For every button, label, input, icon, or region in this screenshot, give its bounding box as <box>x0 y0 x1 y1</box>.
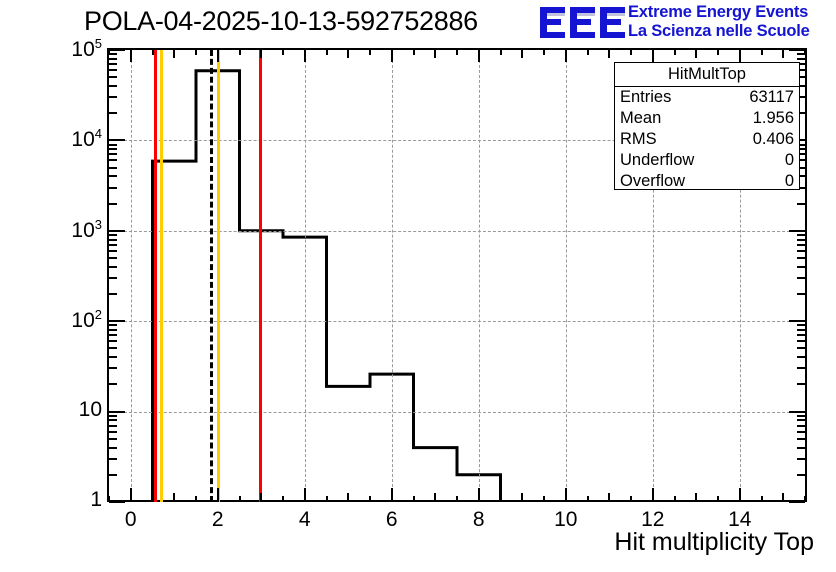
x-tick <box>543 496 545 502</box>
y-tick <box>109 58 117 60</box>
y-tick <box>109 234 117 236</box>
y-tick-right <box>797 293 805 295</box>
x-axis-title: Hit multiplicity Top <box>614 528 814 557</box>
x-tick <box>304 488 306 502</box>
x-tick <box>260 493 262 502</box>
stats-row-value: 0.406 <box>753 129 794 150</box>
y-tick <box>109 277 117 279</box>
y-tick <box>109 257 117 259</box>
stats-row-key: RMS <box>620 129 657 150</box>
x-tick-top <box>130 50 132 62</box>
x-tick <box>456 496 458 502</box>
x-tick <box>717 496 719 502</box>
y-tick <box>109 63 117 65</box>
x-tick <box>152 496 154 502</box>
y-tick <box>109 383 117 385</box>
x-tick-top <box>565 50 567 62</box>
x-tick-top <box>695 50 697 58</box>
y-tick-label: 1 <box>14 488 102 512</box>
y-tick <box>109 425 117 427</box>
x-tick-top <box>478 50 480 62</box>
x-tick-top <box>543 50 545 55</box>
y-tick <box>109 458 117 460</box>
y-tick <box>109 367 117 369</box>
x-tick-top <box>239 50 241 55</box>
y-tick-right <box>797 431 805 433</box>
y-tick-right <box>797 383 805 385</box>
y-tick <box>109 175 117 177</box>
y-tick <box>109 85 117 87</box>
y-tick-right <box>789 320 805 322</box>
x-tick-top <box>391 50 393 62</box>
y-tick <box>109 431 117 433</box>
x-tick <box>565 488 567 502</box>
x-tick-label: 8 <box>449 508 509 532</box>
y-tick <box>109 415 117 417</box>
x-tick <box>521 493 523 502</box>
y-tick-right <box>789 501 805 503</box>
x-tick-top <box>173 50 175 58</box>
stats-box-rows: Entries63117Mean1.956RMS0.406Underflow0O… <box>615 87 799 192</box>
y-tick-right <box>797 239 805 241</box>
y-tick-right <box>797 58 805 60</box>
x-tick-label: 4 <box>275 508 335 532</box>
x-tick-top <box>630 50 632 55</box>
y-tick <box>109 334 117 336</box>
y-tick-label: 104 <box>14 126 102 152</box>
x-tick <box>391 488 393 502</box>
stats-row-key: Mean <box>620 108 661 129</box>
y-tick-right <box>797 266 805 268</box>
stats-row-value: 0 <box>785 171 794 192</box>
x-tick <box>478 488 480 502</box>
y-tick-right <box>797 415 805 417</box>
x-tick <box>195 496 197 502</box>
y-tick-right <box>789 49 805 51</box>
stats-row-value: 0 <box>785 150 794 171</box>
x-tick <box>652 488 654 502</box>
x-tick-top <box>347 50 349 58</box>
y-tick-label: 10 <box>14 398 102 422</box>
x-tick <box>782 493 784 502</box>
y-tick-right <box>797 356 805 358</box>
y-tick <box>109 419 117 421</box>
y-tick <box>109 148 117 150</box>
stats-row: RMS0.406 <box>615 129 799 150</box>
y-tick <box>109 49 125 51</box>
y-tick-right <box>797 447 805 449</box>
y-tick-right <box>797 277 805 279</box>
x-tick-label: 10 <box>536 508 596 532</box>
x-tick-top <box>674 50 676 55</box>
x-tick <box>282 496 284 502</box>
stats-box-title: HitMultTop <box>615 63 799 87</box>
y-tick-right <box>797 340 805 342</box>
y-tick <box>109 167 117 169</box>
y-tick <box>109 159 117 161</box>
x-tick <box>761 496 763 502</box>
y-tick <box>109 230 125 232</box>
root-canvas: POLA-04-2025-10-13-592752886 <box>0 0 836 572</box>
y-tick <box>109 112 117 114</box>
y-tick <box>109 187 117 189</box>
y-tick <box>109 203 117 205</box>
y-tick <box>109 340 117 342</box>
x-tick <box>739 488 741 502</box>
x-tick <box>695 493 697 502</box>
y-tick <box>109 320 125 322</box>
x-tick <box>217 488 219 502</box>
y-tick-label: 102 <box>14 307 102 333</box>
x-tick-top <box>652 50 654 62</box>
y-tick-right <box>797 244 805 246</box>
y-tick <box>109 53 117 55</box>
y-tick-right <box>797 458 805 460</box>
stats-box: HitMultTop Entries63117Mean1.956RMS0.406… <box>614 62 800 190</box>
x-tick-top <box>326 50 328 55</box>
y-tick <box>109 244 117 246</box>
x-tick <box>413 496 415 502</box>
y-tick <box>109 447 117 449</box>
y-tick-right <box>797 425 805 427</box>
y-tick-right <box>797 329 805 331</box>
y-tick <box>109 411 125 413</box>
x-tick-top <box>369 50 371 55</box>
y-tick-right <box>797 334 805 336</box>
y-tick <box>109 293 117 295</box>
x-tick <box>587 496 589 502</box>
y-tick <box>109 96 117 98</box>
y-tick-right <box>797 53 805 55</box>
y-tick <box>109 474 117 476</box>
stats-row: Mean1.956 <box>615 108 799 129</box>
x-tick <box>608 493 610 502</box>
y-tick-right <box>797 474 805 476</box>
stats-row-key: Entries <box>620 87 671 108</box>
x-tick-top <box>500 50 502 55</box>
y-tick-label: 103 <box>14 217 102 243</box>
x-tick <box>173 493 175 502</box>
stats-row: Underflow0 <box>615 150 799 171</box>
x-tick-top <box>304 50 306 62</box>
x-tick-top <box>761 50 763 55</box>
y-tick <box>109 501 125 503</box>
stats-row-value: 1.956 <box>753 108 794 129</box>
y-tick <box>109 139 125 141</box>
x-tick-top <box>782 50 784 58</box>
y-tick-right <box>797 250 805 252</box>
x-tick-top <box>217 50 219 62</box>
y-tick-right <box>797 203 805 205</box>
y-tick-label: 105 <box>14 36 102 62</box>
x-tick-top <box>608 50 610 58</box>
y-tick-right <box>797 257 805 259</box>
x-tick-top <box>152 50 154 55</box>
stats-row-key: Underflow <box>620 150 694 171</box>
y-tick <box>109 329 117 331</box>
x-tick <box>630 496 632 502</box>
y-tick-right <box>789 411 805 413</box>
x-tick-top <box>456 50 458 55</box>
stats-row-value: 63117 <box>749 87 794 108</box>
x-tick <box>239 496 241 502</box>
y-tick-right <box>789 230 805 232</box>
y-tick <box>109 144 117 146</box>
x-tick-top <box>434 50 436 58</box>
y-tick-right <box>797 367 805 369</box>
y-tick-right <box>797 347 805 349</box>
y-tick <box>109 76 117 78</box>
x-tick <box>130 488 132 502</box>
x-tick-label: 0 <box>101 508 161 532</box>
y-tick <box>109 239 117 241</box>
x-tick-label: 6 <box>362 508 422 532</box>
y-tick <box>109 153 117 155</box>
x-tick <box>434 493 436 502</box>
y-tick-right <box>797 234 805 236</box>
y-tick <box>109 356 117 358</box>
x-tick-top <box>282 50 284 55</box>
x-tick-top <box>260 50 262 58</box>
x-tick-top <box>521 50 523 58</box>
x-tick-top <box>587 50 589 55</box>
x-tick <box>326 496 328 502</box>
y-tick-right <box>797 419 805 421</box>
x-tick-label: 2 <box>188 508 248 532</box>
y-tick <box>109 324 117 326</box>
y-tick <box>109 347 117 349</box>
x-tick-top <box>195 50 197 55</box>
y-tick <box>109 266 117 268</box>
y-tick-right <box>797 324 805 326</box>
stats-row: Overflow0 <box>615 171 799 192</box>
y-tick <box>109 69 117 71</box>
stats-row-key: Overflow <box>620 171 685 192</box>
y-tick <box>109 438 117 440</box>
x-tick <box>500 496 502 502</box>
x-tick <box>674 496 676 502</box>
x-tick-top <box>413 50 415 55</box>
y-tick <box>109 250 117 252</box>
y-tick-right <box>797 438 805 440</box>
x-tick <box>347 493 349 502</box>
x-tick-top <box>717 50 719 55</box>
stats-row: Entries63117 <box>615 87 799 108</box>
x-tick <box>369 496 371 502</box>
x-tick-top <box>739 50 741 62</box>
